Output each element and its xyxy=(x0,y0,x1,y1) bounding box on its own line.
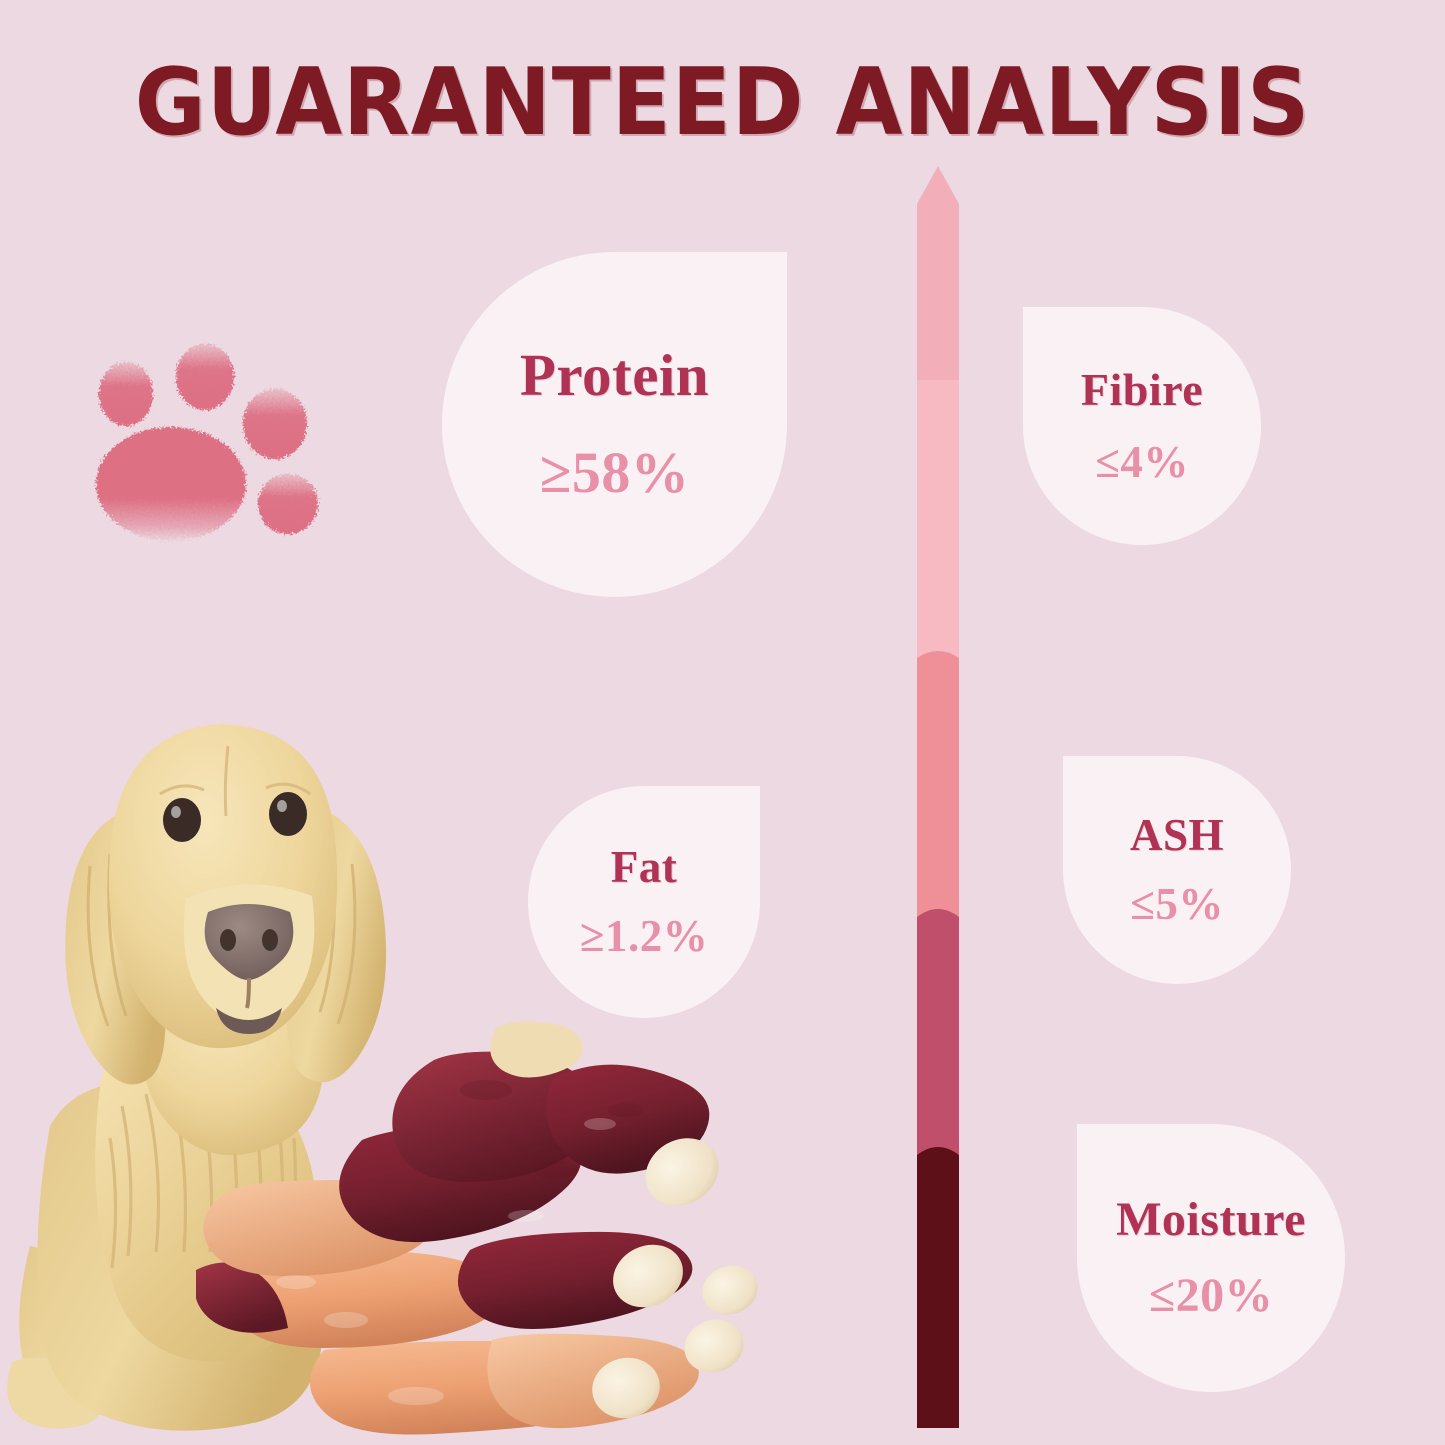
gauge-segment-salmon xyxy=(917,651,959,926)
nutrient-label: Fat xyxy=(611,844,677,891)
nutrient-badge-ash[interactable]: ASH ≤5% xyxy=(1063,756,1291,984)
nutrient-value: ≤4% xyxy=(1095,439,1189,486)
nutrient-badge-moisture[interactable]: Moisture ≤20% xyxy=(1077,1124,1345,1392)
nutrient-badge-protein[interactable]: Protein ≥58% xyxy=(442,252,787,597)
nutrient-label: ASH xyxy=(1130,812,1224,859)
nutrient-value: ≤20% xyxy=(1149,1271,1273,1321)
nutrient-badge-fat[interactable]: Fat ≥1.2% xyxy=(528,786,760,1018)
nutrient-value: ≤5% xyxy=(1130,881,1224,928)
gauge-segment-rose xyxy=(917,909,959,1161)
nutrient-label: Fibire xyxy=(1081,366,1203,414)
poster-canvas: GUARANTEED ANALYSIS xyxy=(0,0,1445,1445)
vertical-gradient-meter xyxy=(917,166,959,1428)
paw-print-icon xyxy=(78,332,340,580)
nutrient-label: Protein xyxy=(520,345,709,407)
nutrient-value: ≥58% xyxy=(540,443,690,504)
page-title: GUARANTEED ANALYSIS xyxy=(51,48,1395,156)
gauge-segment-deep-wine xyxy=(917,1147,959,1428)
nutrient-badge-fibire[interactable]: Fibire ≤4% xyxy=(1023,307,1261,545)
nutrient-value: ≥1.2% xyxy=(580,913,708,960)
dog-treats-image xyxy=(196,1020,816,1445)
nutrient-label: Moisture xyxy=(1116,1195,1306,1245)
